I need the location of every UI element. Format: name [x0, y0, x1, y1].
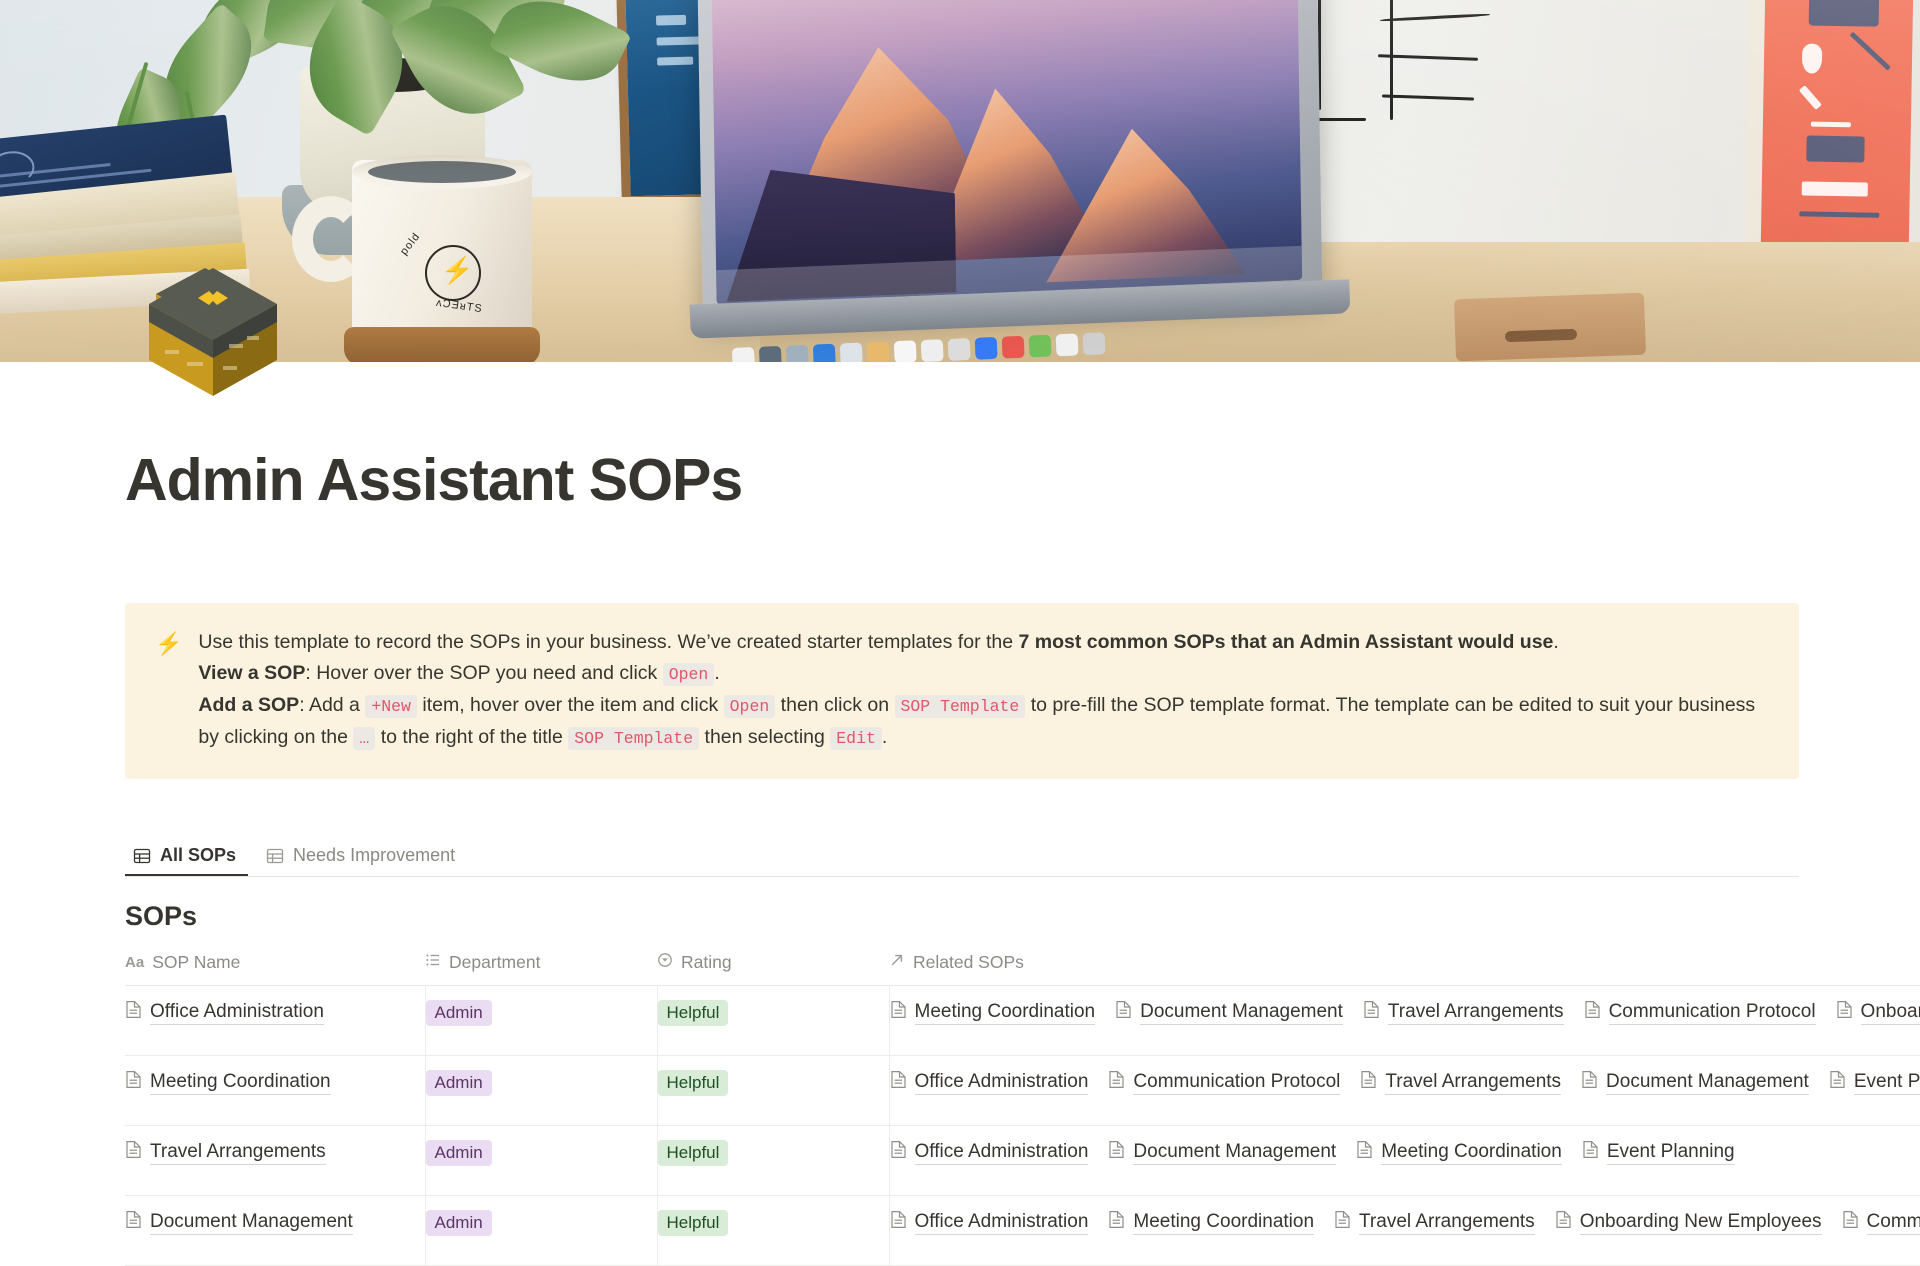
database-title[interactable]: SOPs: [125, 901, 1920, 932]
table-row[interactable]: Meeting Coordination Admin Helpful Offic…: [125, 1056, 1920, 1126]
table-body: Office Administration Admin Helpful Meet…: [125, 986, 1920, 1266]
table-row[interactable]: Travel Arrangements Admin Helpful Office…: [125, 1126, 1920, 1196]
code-ellipsis: …: [353, 727, 375, 750]
related-sop-label: Onboarding New Employees: [1861, 1001, 1920, 1025]
tab-label: All SOPs: [160, 845, 236, 866]
department-tag: Admin: [426, 1210, 492, 1236]
related-sop-link[interactable]: Event Planning: [1582, 1140, 1735, 1165]
document-icon: [890, 1210, 907, 1235]
related-sop-label: Meeting Coordination: [1133, 1211, 1314, 1235]
document-icon: [1584, 1000, 1601, 1025]
callout-line-2: View a SOP: Hover over the SOP you need …: [198, 658, 1769, 690]
related-sop-label: Communication Protocol: [1609, 1001, 1816, 1025]
related-sop-link[interactable]: Onboarding New Employees: [1836, 1000, 1920, 1025]
document-icon: [1842, 1210, 1859, 1235]
tab-needs-improvement[interactable]: Needs Improvement: [258, 837, 467, 876]
column-header-rating[interactable]: Rating: [657, 946, 889, 986]
related-sop-label: Office Administration: [915, 1071, 1089, 1095]
tab-label: Needs Improvement: [293, 845, 455, 866]
cell-department[interactable]: Admin: [425, 1196, 657, 1266]
related-sop-link[interactable]: Communication Protocol: [1584, 1000, 1816, 1025]
related-sop-link[interactable]: Meeting Coordination: [1356, 1140, 1562, 1165]
code-open-1: Open: [663, 663, 715, 686]
page-link: Document Management: [125, 1210, 353, 1235]
related-sop-label: Communication Protocol: [1867, 1211, 1920, 1235]
sop-name-label: Office Administration: [150, 1001, 324, 1025]
select-icon: [657, 952, 673, 973]
callout-l2-bold: View a SOP: [198, 662, 305, 684]
related-sop-label: Event Planning: [1854, 1071, 1920, 1095]
cell-sop-name[interactable]: Document Management: [125, 1196, 425, 1266]
related-sop-label: Travel Arrangements: [1385, 1071, 1561, 1095]
document-icon: [1581, 1070, 1598, 1095]
code-open-2: Open: [724, 695, 776, 718]
related-sop-label: Event Planning: [1607, 1141, 1735, 1165]
cell-department[interactable]: Admin: [425, 1056, 657, 1126]
document-icon: [1108, 1210, 1125, 1235]
related-sop-link[interactable]: Document Management: [1115, 1000, 1343, 1025]
rating-tag: Helpful: [658, 1210, 729, 1236]
code-edit: Edit: [830, 727, 882, 750]
page-link: Office Administration: [125, 1000, 324, 1025]
sop-name-label: Meeting Coordination: [150, 1071, 331, 1095]
related-sop-link[interactable]: Meeting Coordination: [890, 1000, 1096, 1025]
column-label: SOP Name: [152, 952, 240, 973]
rating-tag: Helpful: [658, 1140, 729, 1166]
cell-sop-name[interactable]: Meeting Coordination: [125, 1056, 425, 1126]
related-sop-link[interactable]: Meeting Coordination: [1108, 1210, 1314, 1235]
cell-rating[interactable]: Helpful: [657, 986, 889, 1056]
document-icon: [890, 1000, 907, 1025]
related-sop-link[interactable]: Office Administration: [890, 1070, 1089, 1095]
related-sop-label: Document Management: [1606, 1071, 1809, 1095]
lightning-bolt-icon: ⚡: [155, 627, 182, 753]
sops-table: Aa SOP Name: [125, 946, 1920, 1266]
rating-tag: Helpful: [658, 1070, 729, 1096]
cell-rating[interactable]: Helpful: [657, 1196, 889, 1266]
document-icon: [1115, 1000, 1132, 1025]
related-sop-label: Onboarding New Employees: [1580, 1211, 1822, 1235]
related-sop-link[interactable]: Office Administration: [890, 1210, 1089, 1235]
callout-block[interactable]: ⚡ Use this template to record the SOPs i…: [125, 603, 1799, 779]
cell-rating[interactable]: Helpful: [657, 1056, 889, 1126]
table-row[interactable]: Document Management Admin Helpful Office…: [125, 1196, 1920, 1266]
callout-line-1: Use this template to record the SOPs in …: [198, 627, 1769, 659]
related-sop-link[interactable]: Document Management: [1581, 1070, 1809, 1095]
document-icon: [1555, 1210, 1572, 1235]
sop-name-label: Travel Arrangements: [150, 1141, 326, 1165]
callout-l1-a: Use this template to record the SOPs in …: [198, 631, 1018, 653]
sop-name-label: Document Management: [150, 1211, 353, 1235]
callout-l2-b: .: [714, 662, 719, 684]
related-sop-label: Travel Arrangements: [1359, 1211, 1535, 1235]
isometric-cube-icon[interactable]: [143, 262, 283, 402]
column-header-related-sops[interactable]: Related SOPs: [889, 946, 1920, 986]
cell-sop-name[interactable]: Office Administration: [125, 986, 425, 1056]
page-link: Travel Arrangements: [125, 1140, 326, 1165]
cell-related-sops[interactable]: Meeting Coordination Document Management…: [889, 986, 1920, 1056]
code-sop-template-2: SOP Template: [568, 727, 699, 750]
related-sop-label: Office Administration: [915, 1211, 1089, 1235]
table-header-row: Aa SOP Name: [125, 946, 1920, 986]
multi-select-icon: [425, 952, 441, 973]
document-icon: [125, 1140, 142, 1165]
related-sop-link[interactable]: Communication Protocol: [1108, 1070, 1340, 1095]
callout-l2-a: : Hover over the SOP you need and click: [305, 662, 662, 684]
title-text-icon: Aa: [125, 954, 144, 971]
document-icon: [125, 1070, 142, 1095]
document-icon: [125, 1210, 142, 1235]
page-link: Meeting Coordination: [125, 1070, 331, 1095]
document-icon: [1356, 1140, 1373, 1165]
cell-sop-name[interactable]: Travel Arrangements: [125, 1126, 425, 1196]
related-sop-label: Meeting Coordination: [915, 1001, 1096, 1025]
related-sop-label: Meeting Coordination: [1381, 1141, 1562, 1165]
page-content: Admin Assistant SOPs ⚡ Use this template…: [0, 362, 1920, 1266]
document-icon: [1582, 1140, 1599, 1165]
related-sop-link[interactable]: Travel Arrangements: [1334, 1210, 1535, 1235]
column-header-sop-name[interactable]: Aa SOP Name: [125, 946, 425, 986]
callout-l3-a: : Add a: [299, 694, 365, 716]
related-sop-link[interactable]: Onboarding New Employees: [1555, 1210, 1822, 1235]
callout-l3-g: .: [882, 726, 887, 748]
document-icon: [890, 1140, 907, 1165]
table-row[interactable]: Office Administration Admin Helpful Meet…: [125, 986, 1920, 1056]
related-sop-link[interactable]: Event Planning: [1829, 1070, 1920, 1095]
callout-l3-bold: Add a SOP: [198, 694, 299, 716]
column-label: Department: [449, 952, 540, 973]
related-sop-link[interactable]: Communication Protocol: [1842, 1210, 1920, 1235]
table-icon: [133, 847, 151, 865]
callout-text: Use this template to record the SOPs in …: [198, 627, 1769, 753]
related-sop-label: Travel Arrangements: [1388, 1001, 1564, 1025]
callout-l3-f: then selecting: [699, 726, 830, 748]
relation-icon: [889, 952, 905, 973]
document-icon: [1108, 1140, 1125, 1165]
document-icon: [1108, 1070, 1125, 1095]
column-label: Related SOPs: [913, 952, 1024, 973]
callout-l3-e: to the right of the title: [375, 726, 568, 748]
related-sop-link[interactable]: Document Management: [1108, 1140, 1336, 1165]
callout-line-3: Add a SOP: Add a +New item, hover over t…: [198, 690, 1769, 753]
document-icon: [1360, 1070, 1377, 1095]
column-label: Rating: [681, 952, 732, 973]
callout-l3-c: then click on: [775, 694, 894, 716]
related-sop-label: Office Administration: [915, 1141, 1089, 1165]
related-sop-label: Communication Protocol: [1133, 1071, 1340, 1095]
document-icon: [1836, 1000, 1853, 1025]
view-tabs: All SOPs Needs Improvement: [125, 837, 1799, 877]
callout-l3-b: item, hover over the item and click: [417, 694, 724, 716]
cell-department[interactable]: Admin: [425, 986, 657, 1056]
callout-l1-b: .: [1553, 631, 1558, 653]
cell-related-sops[interactable]: Office Administration Meeting Coordinati…: [889, 1196, 1920, 1266]
document-icon: [890, 1070, 907, 1095]
related-sop-label: Document Management: [1140, 1001, 1343, 1025]
cell-related-sops[interactable]: Office Administration Document Managemen…: [889, 1126, 1920, 1196]
document-icon: [1334, 1210, 1351, 1235]
tab-all-sops[interactable]: All SOPs: [125, 837, 248, 876]
document-icon: [1363, 1000, 1380, 1025]
page-cover[interactable]: pold ʌƆƎᴚTS: [0, 0, 1920, 362]
rating-tag: Helpful: [658, 1000, 729, 1026]
code-sop-template-1: SOP Template: [895, 695, 1026, 718]
page-title[interactable]: Admin Assistant SOPs: [125, 362, 1920, 513]
cell-rating[interactable]: Helpful: [657, 1126, 889, 1196]
document-icon: [1829, 1070, 1846, 1095]
related-sop-link[interactable]: Travel Arrangements: [1363, 1000, 1564, 1025]
cell-department[interactable]: Admin: [425, 1126, 657, 1196]
cover-photo: pold ʌƆƎᴚTS: [0, 0, 1920, 362]
related-sop-label: Document Management: [1133, 1141, 1336, 1165]
column-header-department[interactable]: Department: [425, 946, 657, 986]
code-new: +New: [365, 695, 417, 718]
department-tag: Admin: [426, 1140, 492, 1166]
callout-l1-bold: 7 most common SOPs that an Admin Assista…: [1019, 631, 1554, 653]
department-tag: Admin: [426, 1070, 492, 1096]
document-icon: [125, 1000, 142, 1025]
table-icon: [266, 847, 284, 865]
related-sop-link[interactable]: Travel Arrangements: [1360, 1070, 1561, 1095]
cell-related-sops[interactable]: Office Administration Communication Prot…: [889, 1056, 1920, 1126]
related-sop-link[interactable]: Office Administration: [890, 1140, 1089, 1165]
department-tag: Admin: [426, 1000, 492, 1026]
